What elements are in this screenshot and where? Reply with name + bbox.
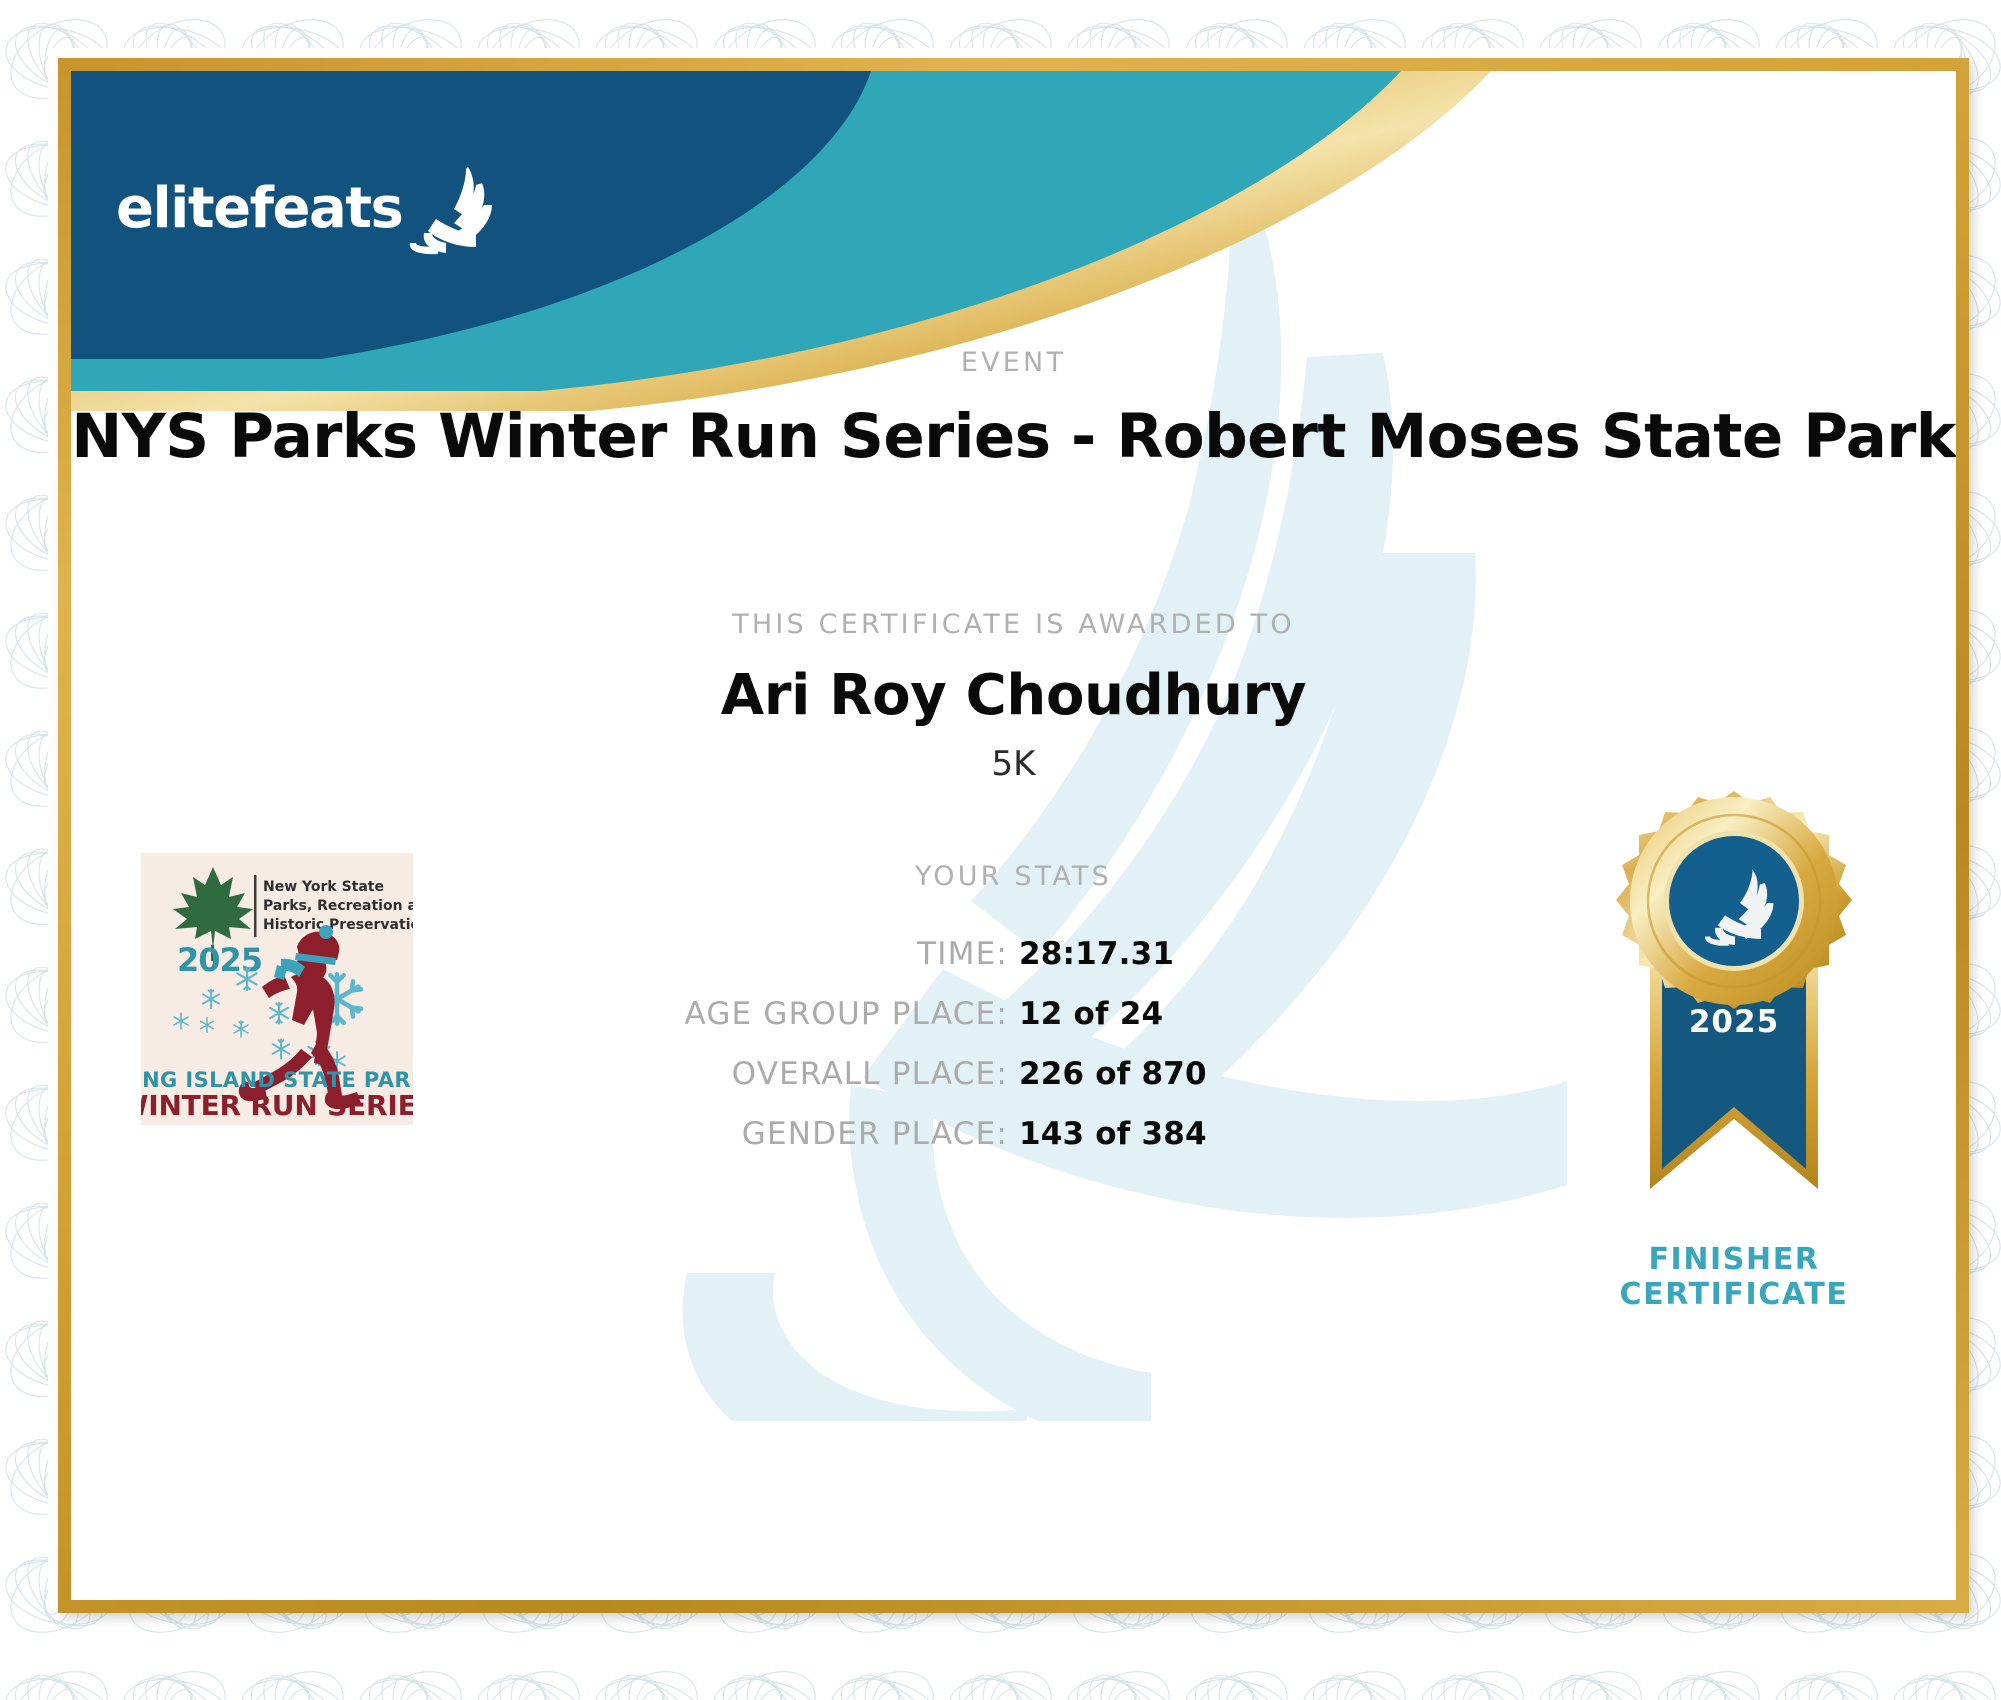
finisher-caption: FINISHER CERTIFICATE	[1564, 1243, 1904, 1313]
table-row: GENDER PLACE: 143 of 384	[71, 1116, 1251, 1176]
stat-value-time: 28:17.31	[1019, 936, 1251, 972]
race-distance: 5K	[71, 744, 1956, 784]
event-series-logo: New York State Parks, Recreation and His…	[141, 853, 413, 1125]
stat-key-gender-place: GENDER PLACE:	[742, 1116, 1008, 1152]
event-title: NYS Parks Winter Run Series - Robert Mos…	[71, 401, 1956, 472]
series-title-line-2: WINTER RUN SERIES	[141, 1089, 413, 1122]
stat-key-time: TIME:	[917, 936, 1008, 972]
stat-key-overall-place: OVERALL PLACE:	[732, 1056, 1008, 1092]
recipient-name: Ari Roy Choudhury	[71, 663, 1956, 728]
event-series-logo-art: New York State Parks, Recreation and His…	[141, 853, 413, 1125]
stat-value-gender-place: 143 of 384	[1019, 1116, 1251, 1152]
agency-line-2: Parks, Recreation and	[263, 898, 413, 914]
finisher-caption-line-2: CERTIFICATE	[1564, 1278, 1904, 1313]
agency-line-1: New York State	[263, 879, 384, 895]
medal-ribbon-year: 2025	[1689, 1004, 1779, 1040]
stat-key-age-group-place: AGE GROUP PLACE:	[684, 996, 1008, 1032]
series-year: 2025	[177, 941, 262, 979]
event-label: EVENT	[71, 347, 1956, 378]
stat-value-age-group-place: 12 of 24	[1019, 996, 1251, 1032]
certificate-frame: elitefeats EVENT NYS Parks Winter Run Se…	[58, 58, 1969, 1613]
agency-line-3: Historic Preservation	[263, 917, 413, 933]
stat-value-overall-place: 226 of 870	[1019, 1056, 1251, 1092]
certificate-body: EVENT NYS Parks Winter Run Series - Robe…	[71, 71, 1956, 1600]
finisher-medal: 2025	[1564, 789, 1904, 1249]
finisher-caption-line-1: FINISHER	[1564, 1243, 1904, 1278]
awarded-to-label: THIS CERTIFICATE IS AWARDED TO	[71, 609, 1956, 640]
certificate-root: elitefeats EVENT NYS Parks Winter Run Se…	[0, 0, 2001, 1700]
